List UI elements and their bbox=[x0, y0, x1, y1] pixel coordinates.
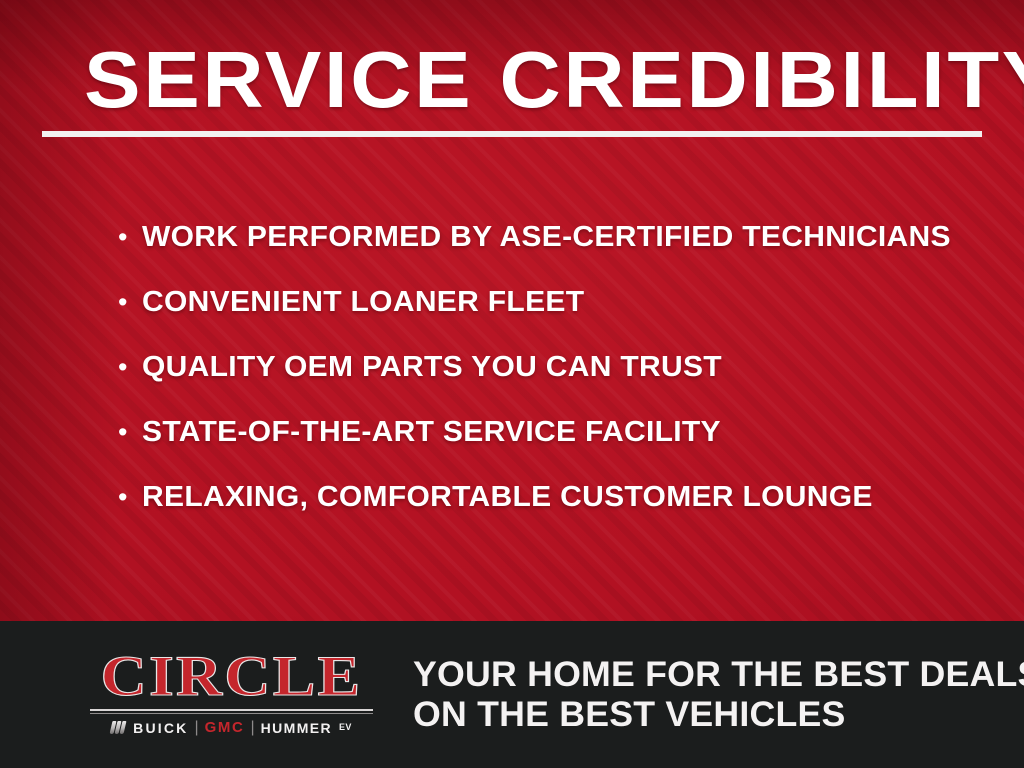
list-item: • QUALITY OEM PARTS YOU CAN TRUST bbox=[118, 352, 988, 417]
bullet-marker-icon: • bbox=[118, 289, 142, 316]
list-item: • WORK PERFORMED BY ASE-CERTIFIED TECHNI… bbox=[118, 222, 988, 287]
footer-tagline-line-1: YOUR HOME FOR THE BEST DEALS bbox=[413, 655, 1024, 695]
brand-label-buick: BUICK bbox=[133, 721, 188, 735]
logo-divider-thin bbox=[90, 713, 373, 714]
brand-label-hummer: HUMMER bbox=[261, 721, 332, 735]
feature-bullet-list: • WORK PERFORMED BY ASE-CERTIFIED TECHNI… bbox=[118, 222, 988, 547]
bullet-marker-icon: • bbox=[118, 484, 142, 511]
footer-bar: CIRCLE BUICK | GMC | HUMMER EV YOUR HOME… bbox=[0, 621, 1024, 768]
dealer-logo: CIRCLE BUICK | GMC | HUMMER EV bbox=[90, 648, 373, 735]
list-item-label: RELAXING, COMFORTABLE CUSTOMER LOUNGE bbox=[142, 482, 873, 512]
bullet-marker-icon: • bbox=[118, 224, 142, 251]
list-item-label: STATE-OF-THE-ART SERVICE FACILITY bbox=[142, 417, 721, 447]
brand-separator: | bbox=[195, 720, 199, 735]
logo-divider bbox=[90, 709, 373, 711]
title-divider bbox=[42, 131, 982, 137]
page-title: SERVICE CREDIBILITY bbox=[84, 38, 1017, 122]
list-item-label: QUALITY OEM PARTS YOU CAN TRUST bbox=[142, 352, 722, 382]
dealer-wordmark: CIRCLE bbox=[73, 648, 390, 706]
list-item: • CONVENIENT LOANER FLEET bbox=[118, 287, 988, 352]
list-item: • RELAXING, COMFORTABLE CUSTOMER LOUNGE bbox=[118, 482, 988, 547]
bullet-marker-icon: • bbox=[118, 419, 142, 446]
brand-separator: | bbox=[250, 720, 254, 735]
list-item-label: WORK PERFORMED BY ASE-CERTIFIED TECHNICI… bbox=[142, 222, 951, 252]
footer-content: CIRCLE BUICK | GMC | HUMMER EV YOUR HOME… bbox=[0, 621, 1024, 768]
brand-strip: BUICK | GMC | HUMMER EV bbox=[90, 720, 373, 735]
service-credibility-slide: SERVICE CREDIBILITY • WORK PERFORMED BY … bbox=[0, 0, 1024, 768]
brand-label-gmc: GMC bbox=[205, 720, 245, 735]
brand-label-hummer-ev-suffix: EV bbox=[339, 723, 352, 732]
list-item: • STATE-OF-THE-ART SERVICE FACILITY bbox=[118, 417, 988, 482]
footer-tagline-line-2: ON THE BEST VEHICLES bbox=[413, 695, 1024, 735]
list-item-label: CONVENIENT LOANER FLEET bbox=[142, 287, 584, 317]
buick-tri-shield-icon bbox=[111, 721, 125, 734]
footer-tagline: YOUR HOME FOR THE BEST DEALS ON THE BEST… bbox=[413, 655, 1024, 735]
bullet-marker-icon: • bbox=[118, 354, 142, 381]
